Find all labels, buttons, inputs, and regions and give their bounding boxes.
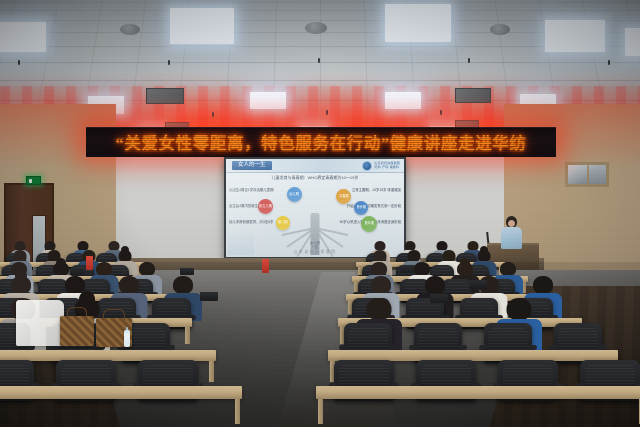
lecture-hall-photo: “关爱女性零距离，特色服务在行动”健康讲座走进华纺 女人的一生 山东省妇幼保健院… [0, 0, 640, 427]
head [371, 262, 387, 276]
slide-logo-line2: 妇科·产科·保健科 [374, 166, 400, 170]
chair-mesh-back [348, 328, 387, 353]
tree-node-label: 育龄期 [356, 206, 366, 210]
tree-node: 幼儿期 [287, 187, 302, 202]
head [53, 262, 69, 276]
slide-left-label: 幼儿学龄前期发育，约3至6岁 [229, 220, 273, 224]
ceiling-speaker [305, 22, 327, 34]
ceiling-light-panel [250, 92, 286, 109]
chair-mesh-back [126, 328, 165, 353]
ceiling-sprinkler [326, 110, 328, 115]
slide-header-note: 儿童发育与青春期：WHO界定青春期为10～19岁 [272, 175, 359, 181]
tree-node: 青春期 [336, 189, 351, 204]
tree-node-label: 青春期 [339, 195, 349, 199]
head [457, 262, 473, 276]
desk-leg [235, 399, 240, 424]
tree-node: 育龄期 [354, 201, 368, 215]
ceiling-sprinkler [468, 58, 470, 63]
presenter-face [508, 220, 515, 227]
tree-node-label: 婴儿期 [278, 221, 288, 225]
head [425, 276, 445, 294]
ceiling-air-vent [455, 88, 491, 103]
laptop [200, 292, 218, 301]
tree-center-label: 女人的一生 [309, 241, 321, 249]
head [367, 298, 392, 320]
slide-logo: 山东省妇幼保健院 妇科·产科·保健科 [362, 161, 400, 171]
presenter [501, 216, 522, 249]
desk [316, 386, 640, 399]
laptop [180, 268, 194, 275]
head [65, 276, 85, 294]
led-banner: “关爱女性零距离，特色服务在行动”健康讲座走进华纺 [86, 127, 556, 157]
tree-node-label: 新生儿期 [259, 205, 272, 209]
head [414, 262, 430, 276]
head [371, 276, 391, 294]
slide-left-label: 从出生4周至1岁存活期儿童期 [229, 188, 273, 192]
thermos-cup [86, 256, 93, 270]
ceiling-air-vent [146, 88, 184, 104]
slide-title-bar: 女人的一生 山东省妇幼保健院 妇科·产科·保健科 [226, 159, 404, 173]
slide-title: 女人的一生 [232, 161, 272, 170]
head [11, 276, 31, 294]
laptop [430, 294, 448, 303]
ceiling-light-panel [0, 22, 46, 52]
head [96, 262, 112, 276]
ceiling-speaker [120, 24, 140, 35]
handbag [60, 316, 94, 346]
head [507, 298, 532, 320]
ceiling-sprinkler [168, 60, 170, 65]
ceiling-light-panel [385, 4, 451, 42]
water-bottle [124, 330, 130, 347]
laptop [70, 268, 84, 275]
thermos-cup [262, 259, 269, 273]
ceiling-light-panel [545, 20, 605, 52]
tree-node: 更年期 [361, 216, 377, 232]
chair-mesh-back [418, 328, 457, 353]
head [139, 262, 155, 276]
ceiling-sprinkler [440, 110, 442, 115]
head [173, 276, 193, 294]
ceiling-sprinkler [318, 58, 320, 63]
exit-sign-icon [26, 176, 41, 185]
desk-leg [318, 399, 323, 424]
head [500, 262, 516, 276]
tree-node-label: 幼儿期 [289, 193, 299, 197]
slide-right-label: 立育主要期，13岁15岁 体重增加 [352, 188, 401, 192]
desk [0, 386, 242, 399]
desk-leg [209, 361, 214, 382]
plastic-shopping-bag [16, 300, 64, 346]
tree-node: 婴儿期 [276, 216, 290, 230]
ceiling-speaker [490, 24, 510, 35]
ceiling-light-panel [170, 8, 234, 44]
chair-mesh-back [488, 328, 527, 353]
window-glare [568, 165, 606, 184]
laptop [470, 280, 487, 289]
head [533, 276, 553, 294]
slide-footer-watermark: 山东省妇幼保健院 [293, 249, 336, 255]
tree-node: 新生儿期 [258, 199, 273, 214]
ceiling-light-panel [385, 92, 421, 109]
desk-leg [185, 327, 190, 344]
presenter-torso [501, 227, 522, 249]
hospital-logo-icon [362, 161, 372, 171]
slide-corner-graphic [228, 229, 254, 255]
ceiling-sprinkler [608, 60, 610, 65]
ceiling-sprinkler [212, 112, 214, 117]
led-banner-text: “关爱女性零距离，特色服务在行动”健康讲座走进华纺 [116, 130, 527, 154]
ceiling-sprinkler [18, 60, 20, 65]
projection-booth-window [565, 162, 609, 187]
ceiling-light-panel [625, 28, 640, 56]
chair-mesh-back [558, 328, 597, 353]
handbag-handle [103, 309, 125, 320]
laptop [400, 266, 414, 273]
tree-node-label: 更年期 [364, 222, 374, 226]
handbag-handle [67, 307, 87, 318]
head [119, 276, 139, 294]
